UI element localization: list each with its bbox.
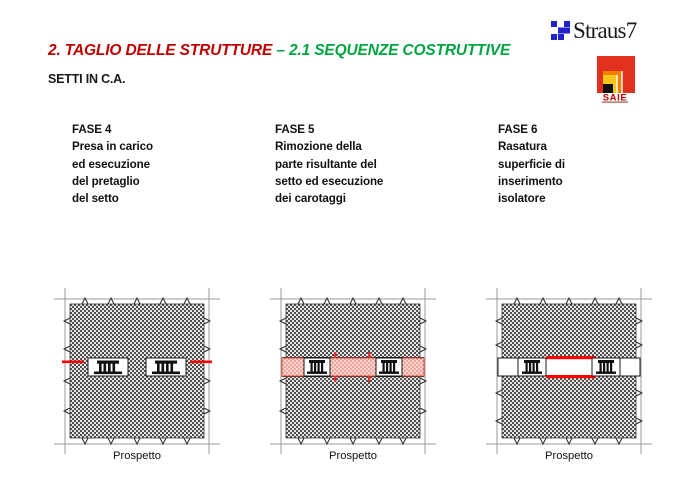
phase-line: inserimento xyxy=(498,173,678,190)
phase-line: dei carotaggi xyxy=(275,190,470,207)
phase-line: Presa in carico xyxy=(72,138,247,155)
wall-diagram-fase-4 xyxy=(52,286,222,456)
jack-pocket xyxy=(518,358,546,376)
blue-checker-grid-icon xyxy=(551,21,570,40)
page-title: 2. TAGLIO DELLE STRUTTURE – 2.1 SEQUENZE… xyxy=(48,42,510,60)
diagram-caption: Prospetto xyxy=(273,450,433,462)
phase-text-block-4: FASE 4 Presa in carico ed esecuzione del… xyxy=(72,121,247,207)
phase-line: del setto xyxy=(72,190,247,207)
phase-line: parte risultante del xyxy=(275,156,470,173)
jack-pocket xyxy=(146,358,186,376)
page-subtitle: SETTI IN C.A. xyxy=(48,72,125,86)
slide-canvas: 2. TAGLIO DELLE STRUTTURE – 2.1 SEQUENZE… xyxy=(0,0,700,495)
page-title-red-part: 2. TAGLIO DELLE STRUTTURE xyxy=(48,42,276,59)
jack-pocket xyxy=(304,358,330,376)
wall-diagram-fase-6 xyxy=(484,286,654,456)
wall-diagram-fase-5 xyxy=(268,286,438,456)
diagram-caption: Prospetto xyxy=(57,450,217,462)
phase-line: setto ed esecuzione xyxy=(275,173,470,190)
phase-line: isolatore xyxy=(498,190,678,207)
wall-body-lower xyxy=(502,376,636,438)
phase-text-block-5: FASE 5 Rimozione della parte risultante … xyxy=(275,121,470,207)
phase-line: Rimozione della xyxy=(275,138,470,155)
phase-line: del pretaglio xyxy=(72,173,247,190)
phase-line: FASE 4 xyxy=(72,121,247,138)
phase-line: superficie di xyxy=(498,156,678,173)
phase-line: FASE 6 xyxy=(498,121,678,138)
page-title-green-part: – 2.1 SEQUENZE COSTRUTTIVE xyxy=(276,42,510,59)
jack-pocket xyxy=(88,358,128,376)
svg-text:SAIE: SAIE xyxy=(603,93,628,104)
removed-segments xyxy=(282,358,424,376)
saie-logo: SAIE xyxy=(589,53,641,103)
jack-pocket xyxy=(592,358,620,376)
phase-line: ed esecuzione xyxy=(72,156,247,173)
jack-pocket xyxy=(376,358,402,376)
straus7-wordmark: Straus7 xyxy=(573,21,636,40)
phase-text-block-6: FASE 6 Rasatura superficie di inseriment… xyxy=(498,121,678,207)
diagram-caption: Prospetto xyxy=(489,450,649,462)
phase-line: FASE 5 xyxy=(275,121,470,138)
wall-body-upper xyxy=(502,304,636,358)
straus7-logo: Straus7 xyxy=(551,21,636,40)
phase-line: Rasatura xyxy=(498,138,678,155)
saie-logo-graphic: SAIE xyxy=(589,53,641,103)
